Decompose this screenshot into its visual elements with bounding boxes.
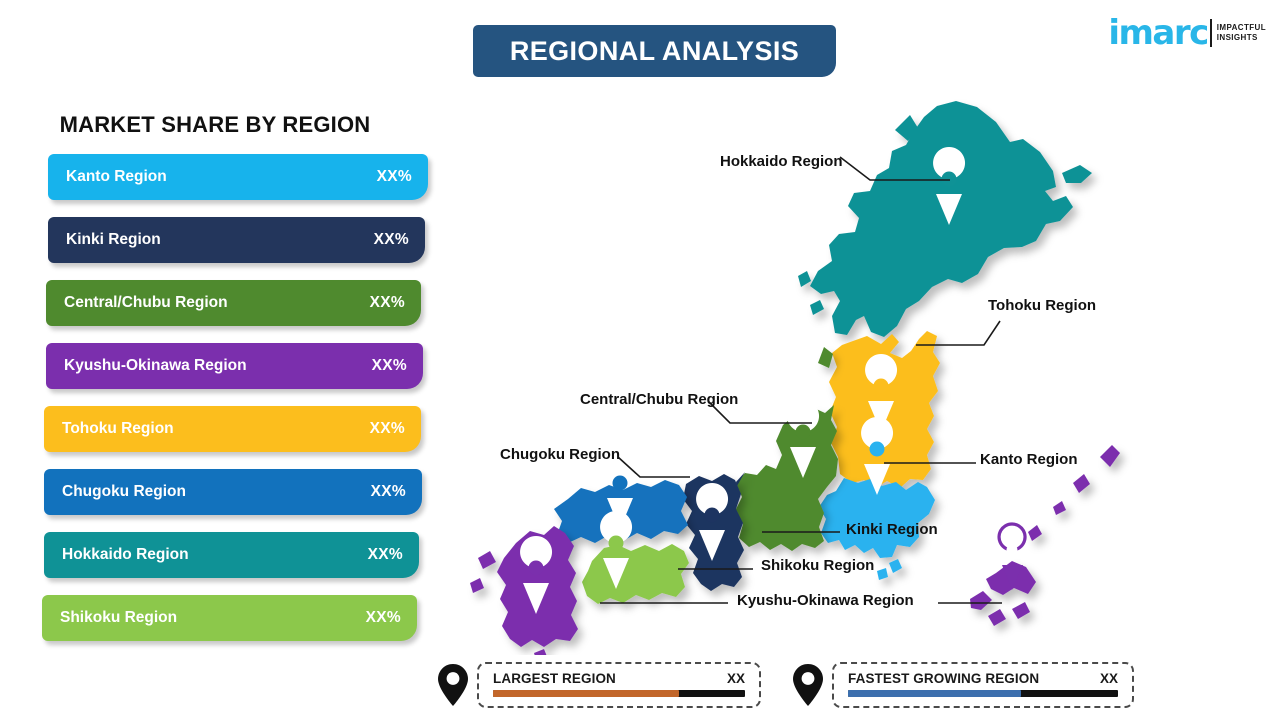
region-bar-label: Kanto Region [66,168,377,186]
imarc-logo: imarc IMPACTFUL INSIGHTS [1108,12,1266,54]
region-bar[interactable]: Hokkaido RegionXX% [44,532,419,578]
map-label-shikoku: Shikoku Region [761,557,874,574]
region-bar-value: XX% [370,294,405,312]
region-bar-label: Central/Chubu Region [64,294,370,312]
largest-region-progress-track [493,690,745,697]
region-bar-label: Kinki Region [66,231,374,249]
largest-region-header: LARGEST REGION XX [493,671,745,686]
page-title: REGIONAL ANALYSIS [510,38,799,65]
region-bar-label: Hokkaido Region [62,546,368,564]
fastest-growing-region-header: FASTEST GROWING REGION XX [848,671,1118,686]
market-share-heading: MARKET SHARE BY REGION [0,112,450,138]
fastest-growing-region-progress-fill [848,690,1021,697]
fastest-growing-region-callout[interactable]: FASTEST GROWING REGION XX [793,662,1134,708]
logo-tagline: IMPACTFUL INSIGHTS [1217,23,1266,43]
region-bar-label: Chugoku Region [62,483,371,501]
logo-tagline-line1: IMPACTFUL [1217,23,1266,33]
region-bar-label: Kyushu-Okinawa Region [64,357,372,375]
largest-region-value: XX [727,671,745,686]
logo-tagline-line2: INSIGHTS [1217,33,1266,43]
largest-region-progress-fill [493,690,679,697]
map-pin-icon [438,664,468,706]
fastest-growing-region-progress-track [848,690,1118,697]
largest-region-title: LARGEST REGION [493,671,616,686]
region-bar-value: XX% [366,609,401,627]
logo-divider [1210,19,1212,47]
region-bar[interactable]: Tohoku RegionXX% [44,406,421,452]
page-title-banner: REGIONAL ANALYSIS [473,25,836,77]
region-bar[interactable]: Chugoku RegionXX% [44,469,422,515]
map-label-tohoku: Tohoku Region [988,297,1096,314]
map-label-hokkaido: Hokkaido Region [720,153,843,170]
region-bar-value: XX% [370,420,405,438]
region-bar[interactable]: Kanto RegionXX% [48,154,428,200]
region-bar-value: XX% [374,231,409,249]
largest-region-box: LARGEST REGION XX [477,662,761,708]
region-bar[interactable]: Central/Chubu RegionXX% [46,280,421,326]
region-bar-value: XX% [377,168,412,186]
japan-regional-map: Hokkaido Region Tohoku Region Central/Ch… [440,95,1280,655]
map-region-shikoku[interactable] [582,544,689,604]
map-label-kinki: Kinki Region [846,521,938,538]
region-bar-label: Tohoku Region [62,420,370,438]
map-region-chubu[interactable] [735,347,838,551]
fastest-growing-region-title: FASTEST GROWING REGION [848,671,1039,686]
slide-root: REGIONAL ANALYSIS imarc IMPACTFUL INSIGH… [0,0,1280,720]
market-share-panel: MARKET SHARE BY REGION Kanto RegionXX%Ki… [0,112,450,658]
fastest-growing-region-value: XX [1100,671,1118,686]
largest-region-callout[interactable]: LARGEST REGION XX [438,662,761,708]
region-bar[interactable]: Kyushu-Okinawa RegionXX% [46,343,423,389]
region-bar-value: XX% [368,546,403,564]
map-pin-icon [793,664,823,706]
fastest-growing-region-box: FASTEST GROWING REGION XX [832,662,1134,708]
map-region-okinawa[interactable] [970,445,1120,626]
region-bar-label: Shikoku Region [60,609,366,627]
region-bar-list: Kanto RegionXX%Kinki RegionXX%Central/Ch… [0,154,450,641]
region-bar-value: XX% [371,483,406,501]
map-label-chubu: Central/Chubu Region [580,391,738,408]
region-bar[interactable]: Shikoku RegionXX% [42,595,417,641]
region-bar[interactable]: Kinki RegionXX% [48,217,425,263]
region-bar-value: XX% [372,357,407,375]
map-label-kyushu: Kyushu-Okinawa Region [737,592,914,609]
map-label-chugoku: Chugoku Region [500,446,620,463]
logo-wordmark: imarc [1108,16,1207,50]
map-label-kanto: Kanto Region [980,451,1078,468]
